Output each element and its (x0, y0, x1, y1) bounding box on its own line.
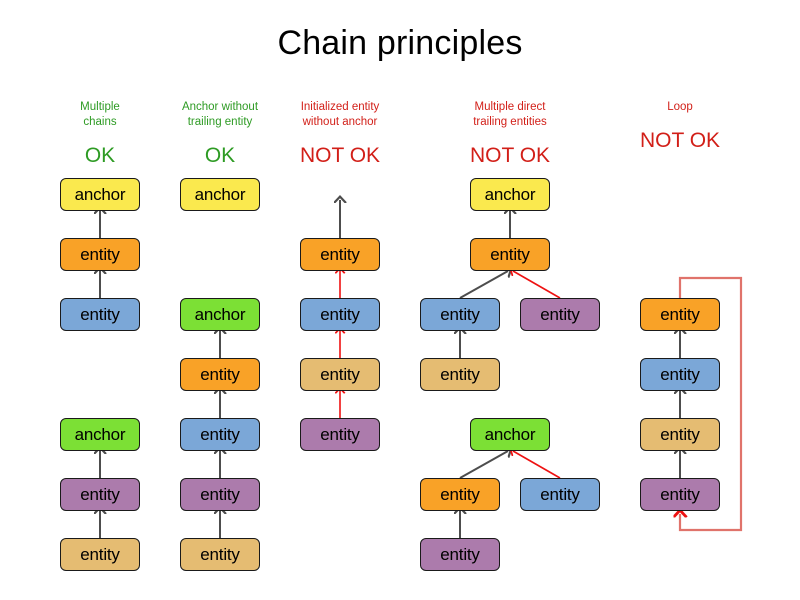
node-entity[interactable]: entity (640, 358, 720, 391)
column-verdict: NOT OK (595, 129, 765, 152)
column-description: Multiple direct trailing entities (425, 100, 595, 130)
node-entity[interactable]: entity (180, 358, 260, 391)
node-entity[interactable]: entity (60, 298, 140, 331)
column-header-multiple-direct-trailing-entities: Multiple direct trailing entitiesNOT OK (425, 100, 595, 167)
node-entity[interactable]: entity (420, 298, 500, 331)
node-entity[interactable]: entity (640, 418, 720, 451)
node-entity[interactable]: entity (300, 418, 380, 451)
node-entity[interactable]: entity (420, 478, 500, 511)
edge-multiple-direct-trailing-entities-1 (460, 271, 508, 298)
column-verdict: NOT OK (425, 144, 595, 167)
node-anchor[interactable]: anchor (60, 418, 140, 451)
node-anchor[interactable]: anchor (470, 418, 550, 451)
node-entity[interactable]: entity (60, 538, 140, 571)
node-entity[interactable]: entity (470, 238, 550, 271)
node-anchor[interactable]: anchor (60, 178, 140, 211)
node-anchor[interactable]: anchor (470, 178, 550, 211)
node-entity[interactable]: entity (520, 298, 600, 331)
column-description: Initialized entity without anchor (255, 100, 425, 130)
node-entity[interactable]: entity (180, 478, 260, 511)
page-title: Chain principles (0, 24, 800, 63)
edge-multiple-direct-trailing-entities-4 (460, 451, 508, 478)
column-verdict: NOT OK (255, 144, 425, 167)
node-entity[interactable]: entity (300, 298, 380, 331)
column-description: Loop (595, 100, 765, 115)
column-header-initialized-entity-without-anchor: Initialized entity without anchorNOT OK (255, 100, 425, 167)
edge-multiple-direct-trailing-entities-2 (513, 271, 560, 298)
node-anchor[interactable]: anchor (180, 178, 260, 211)
node-entity[interactable]: entity (180, 418, 260, 451)
node-entity[interactable]: entity (640, 298, 720, 331)
node-entity[interactable]: entity (420, 358, 500, 391)
column-header-loop: LoopNOT OK (595, 100, 765, 152)
node-entity[interactable]: entity (180, 538, 260, 571)
edge-multiple-direct-trailing-entities-5 (513, 451, 560, 478)
diagram-canvas: Chain principles Multiple chainsOKAnchor… (0, 0, 800, 600)
node-entity[interactable]: entity (300, 358, 380, 391)
node-anchor[interactable]: anchor (180, 298, 260, 331)
node-entity[interactable]: entity (60, 478, 140, 511)
node-entity[interactable]: entity (60, 238, 140, 271)
node-entity[interactable]: entity (640, 478, 720, 511)
node-entity[interactable]: entity (520, 478, 600, 511)
node-entity[interactable]: entity (420, 538, 500, 571)
node-entity[interactable]: entity (300, 238, 380, 271)
